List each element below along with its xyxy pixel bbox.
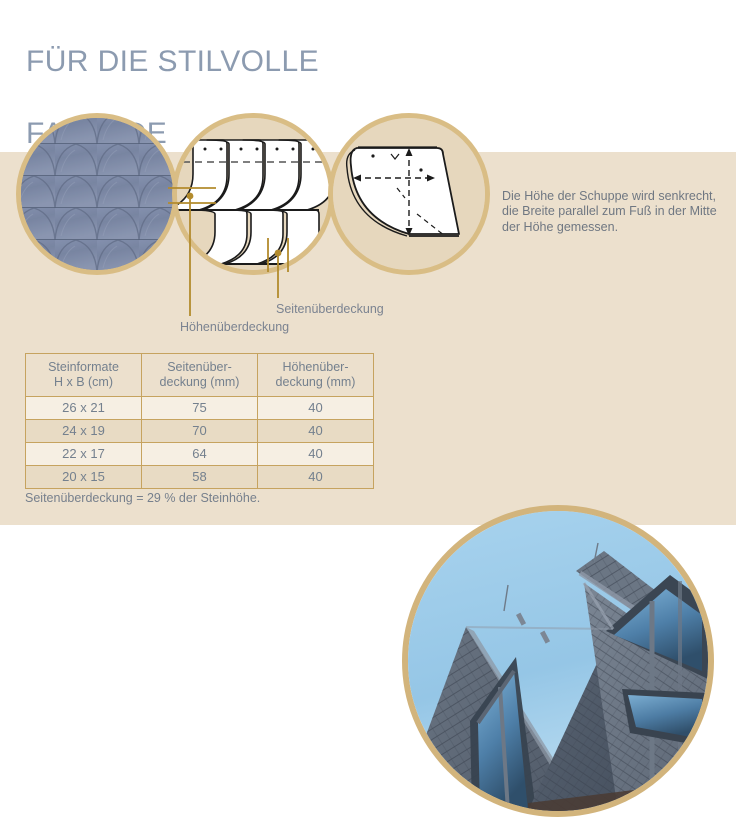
table-footnote: Seitenüberdeckung = 29 % der Steinhöhe.	[25, 491, 260, 506]
cell-stone-format: 24 x 19	[26, 420, 142, 443]
shingle-overlap-diagram	[172, 113, 334, 275]
table-row: 20 x 15 58 40	[26, 466, 374, 489]
single-shingle-dimension-diagram	[328, 113, 490, 275]
slate-texture-photo	[16, 113, 178, 275]
cell-height-overlap: 40	[258, 443, 374, 466]
table-header-side-overlap: Seitenüber- deckung (mm)	[142, 354, 258, 397]
callout-label-side-overlap: Seitenüberdeckung	[276, 302, 384, 316]
table-header-row: Steinformate H x B (cm) Seitenüber- deck…	[26, 354, 374, 397]
cell-side-overlap: 64	[142, 443, 258, 466]
cell-side-overlap: 75	[142, 397, 258, 420]
cell-stone-format: 26 x 21	[26, 397, 142, 420]
table-row: 24 x 19 70 40	[26, 420, 374, 443]
cell-height-overlap: 40	[258, 466, 374, 489]
cell-stone-format: 22 x 17	[26, 443, 142, 466]
table-header-stone-format: Steinformate H x B (cm)	[26, 354, 142, 397]
cell-side-overlap: 70	[142, 420, 258, 443]
cell-height-overlap: 40	[258, 420, 374, 443]
table-header-height-overlap: Höhenüber- deckung (mm)	[258, 354, 374, 397]
page-title-line-1: FÜR DIE STILVOLLE	[26, 44, 446, 80]
measurement-description-text: Die Höhe der Schuppe wird senkrecht, die…	[502, 189, 724, 236]
slate-roof-photo	[402, 505, 714, 817]
cell-side-overlap: 58	[142, 466, 258, 489]
cell-height-overlap: 40	[258, 397, 374, 420]
cell-stone-format: 20 x 15	[26, 466, 142, 489]
callout-label-height-overlap: Höhenüberdeckung	[180, 320, 289, 334]
table-row: 22 x 17 64 40	[26, 443, 374, 466]
table-row: 26 x 21 75 40	[26, 397, 374, 420]
stone-format-table: Steinformate H x B (cm) Seitenüber- deck…	[25, 353, 374, 489]
